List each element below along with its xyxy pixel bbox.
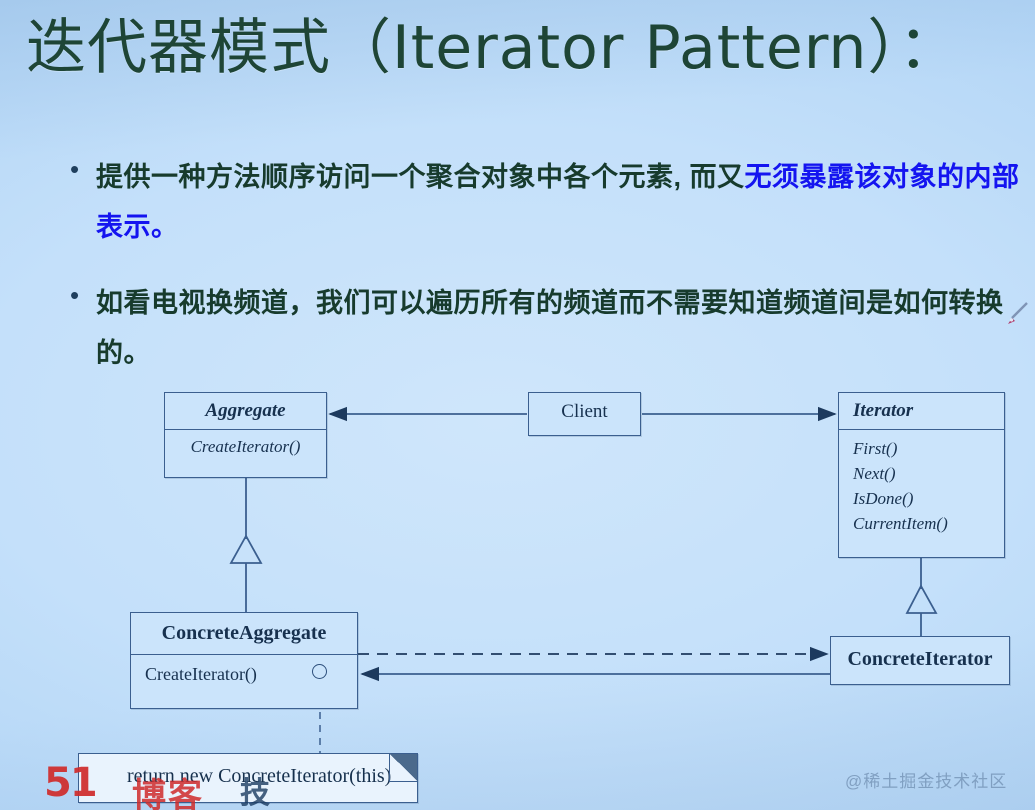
- uml-class-client-name: Client: [529, 393, 640, 429]
- slide-canvas: 迭代器模式（Iterator Pattern）： • 提供一种方法顺序访问一个聚…: [0, 0, 1035, 810]
- uml-operation: CurrentItem(): [853, 511, 992, 536]
- uml-class-concrete-aggregate-name: ConcreteAggregate: [131, 613, 357, 654]
- page-title: 迭代器模式（Iterator Pattern）：: [26, 18, 959, 78]
- uml-class-concrete-iterator[interactable]: ConcreteIterator: [830, 636, 1010, 685]
- uml-class-aggregate-operations: CreateIterator(): [165, 429, 326, 463]
- uml-class-concrete-aggregate[interactable]: ConcreteAggregate CreateIterator(): [130, 612, 358, 709]
- page-title-tail: ）：: [867, 14, 959, 81]
- bullet-item-1: • 提供一种方法顺序访问一个聚合对象中各个元素, 而又无须暴露该对象的内部表示。: [62, 152, 1035, 252]
- uml-operation: Next(): [853, 461, 992, 486]
- uml-class-aggregate-name: Aggregate: [165, 393, 326, 429]
- page-title-cn: 迭代器模式（: [26, 14, 392, 81]
- note-fold-corner-icon: [389, 754, 417, 782]
- bullet-text-2: 如看电视换频道，我们可以遍历所有的频道而不需要知道频道间是如何转换的。: [96, 278, 1026, 378]
- watermark-right: @稀土掘金技术社区: [845, 767, 1007, 792]
- watermark-left: 51 博客 技术: [44, 760, 294, 810]
- page-title-en: Iterator Pattern: [392, 13, 867, 83]
- bullet-item-2: • 如看电视换频道，我们可以遍历所有的频道而不需要知道频道间是如何转换的。: [62, 278, 1035, 378]
- bullet-marker: •: [62, 152, 96, 186]
- uml-class-aggregate[interactable]: Aggregate CreateIterator(): [164, 392, 327, 478]
- uml-class-client[interactable]: Client: [528, 392, 641, 436]
- uml-class-iterator-name: Iterator: [839, 393, 1004, 429]
- uml-class-concrete-iterator-name: ConcreteIterator: [831, 637, 1009, 677]
- uml-operation: CreateIterator(): [145, 664, 257, 684]
- bullet-text-1: 提供一种方法顺序访问一个聚合对象中各个元素, 而又无须暴露该对象的内部表示。: [96, 152, 1026, 252]
- uml-operation: IsDone(): [853, 486, 992, 511]
- uml-class-concrete-aggregate-operations: CreateIterator(): [131, 654, 357, 691]
- watermark-left-cn: 博客: [132, 768, 204, 810]
- uml-class-iterator[interactable]: Iterator First() Next() IsDone() Current…: [838, 392, 1005, 558]
- bullet-marker: •: [62, 278, 96, 312]
- pen-icon: [1003, 300, 1031, 328]
- watermark-logo-51: 51: [44, 760, 96, 806]
- uml-operation: First(): [853, 436, 992, 461]
- watermark-left-cn2: 技术: [240, 768, 294, 810]
- uml-class-iterator-operations: First() Next() IsDone() CurrentItem(): [839, 429, 1004, 542]
- bullet-text-1-part1: 提供一种方法顺序访问一个聚合对象中各个元素, 而又: [96, 162, 745, 192]
- interface-lollipop-icon: [312, 664, 327, 679]
